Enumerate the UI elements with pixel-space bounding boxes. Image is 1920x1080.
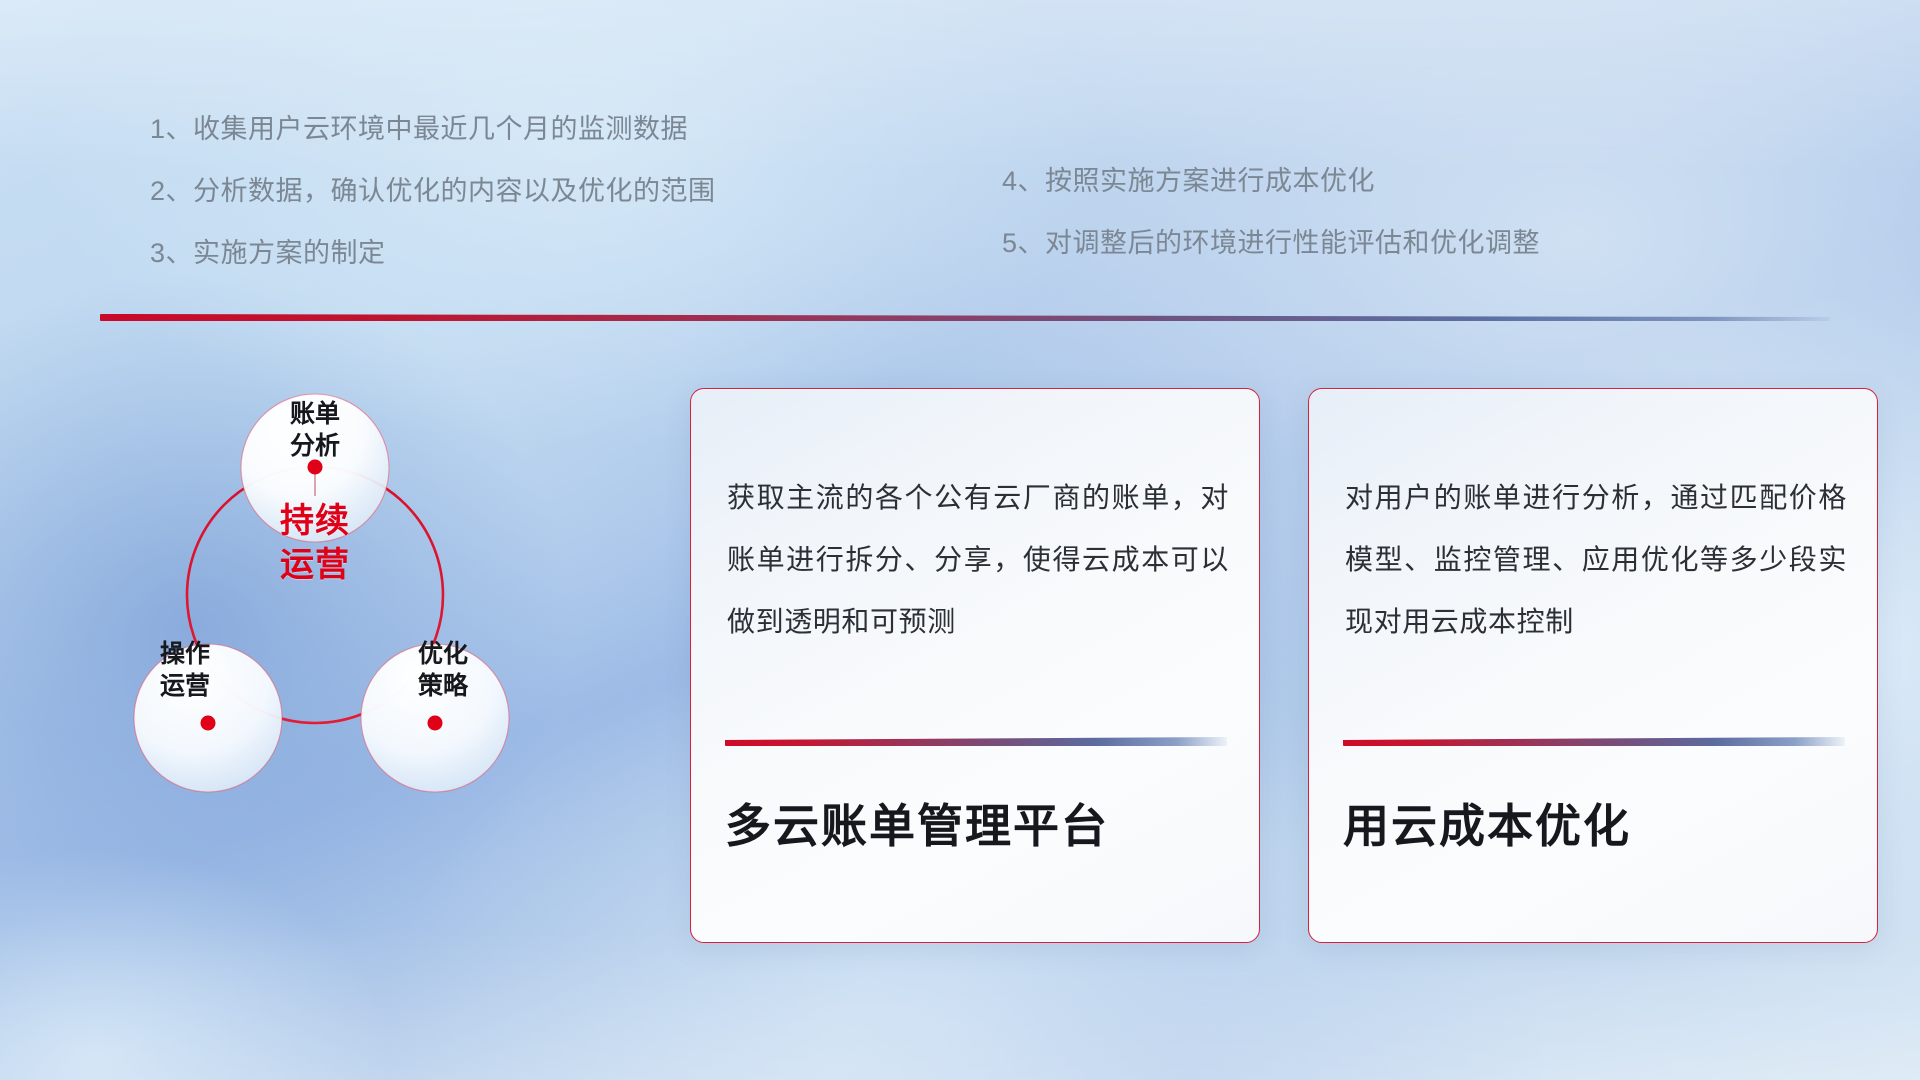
feature-card-2-title: 用云成本优化 [1343, 799, 1849, 854]
feature-card-1-body: 获取主流的各个公有云厂商的账单，对账单进行拆分、分享，使得云成本可以做到透明和可… [727, 467, 1229, 653]
feature-card-1-divider [725, 737, 1227, 746]
process-step-1: 1、收集用户云环境中最近几个月的监测数据 [150, 98, 716, 160]
feature-card-multicloud-billing[interactable]: 获取主流的各个公有云厂商的账单，对账单进行拆分、分享，使得云成本可以做到透明和可… [690, 388, 1260, 943]
feature-card-cost-optimization[interactable]: 对用户的账单进行分析，通过匹配价格模型、监控管理、应用优化等多少段实现对用云成本… [1308, 388, 1878, 943]
process-steps-list: 1、收集用户云环境中最近几个月的监测数据 2、分析数据，确认优化的内容以及优化的… [0, 0, 1920, 260]
venn-label-optimization: 优化 策略 [368, 638, 518, 702]
feature-card-2-body: 对用户的账单进行分析，通过匹配价格模型、监控管理、应用优化等多少段实现对用云成本… [1345, 467, 1847, 653]
process-step-5: 5、对调整后的环境进行性能评估和优化调整 [1002, 212, 1540, 274]
process-steps-left-column: 1、收集用户云环境中最近几个月的监测数据 2、分析数据，确认优化的内容以及优化的… [150, 98, 716, 284]
venn-label-operations: 操作 运营 [110, 638, 260, 702]
venn-label-center: 持续 运营 [235, 500, 395, 587]
process-step-3: 3、实施方案的制定 [150, 222, 716, 284]
feature-card-2-divider [1343, 737, 1845, 746]
venn-node-dot-right [428, 716, 443, 731]
process-step-4: 4、按照实施方案进行成本优化 [1002, 150, 1540, 212]
feature-card-1-title: 多云账单管理平台 [725, 799, 1231, 854]
process-steps-right-column: 4、按照实施方案进行成本优化 5、对调整后的环境进行性能评估和优化调整 [1002, 150, 1540, 274]
venn-label-bill-analysis: 账单 分析 [240, 398, 390, 462]
process-step-2: 2、分析数据，确认优化的内容以及优化的范围 [150, 160, 716, 222]
venn-diagram: 账单 分析 持续 运营 操作 运营 优化 策略 [90, 350, 560, 820]
venn-node-dot-left [201, 716, 216, 731]
